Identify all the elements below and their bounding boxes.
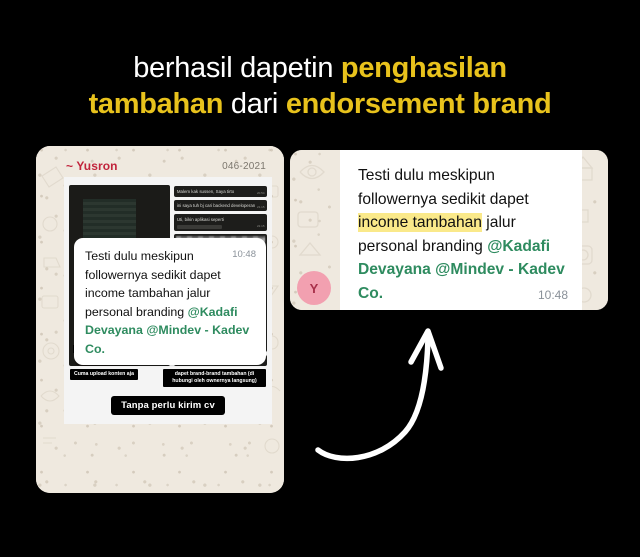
left-message-text: Testi dulu meskipun followernya sedikit … (85, 247, 256, 358)
page-title: berhasil dapetin penghasilan tambahan da… (0, 50, 640, 122)
right-message-bubble: Testi dulu meskipun followernya sedikit … (340, 150, 582, 310)
avatar: Y (297, 271, 331, 305)
inner-chat-time: 21.15 (257, 204, 265, 210)
inner-chat-text: Malem kak sussen, Saya tirto (177, 189, 234, 194)
curved-up-arrow (310, 322, 475, 464)
inner-chat-message: Uti, bikin aplikasi seperti 22.15 (174, 214, 267, 231)
caption-center: Tanpa perlu kirim cv (111, 396, 225, 415)
left-whatsapp-screenshot-card: ~ Yusron 046-2021 bodien ini Malem kak s… (36, 146, 284, 493)
caption-row: Cuma upload konten aja dapet brand-brand… (70, 369, 266, 387)
left-message-bubble: 10:48 Testi dulu meskipun followernya se… (74, 238, 266, 365)
headline-line-2: tambahan dari endorsement brand (0, 86, 640, 122)
left-message-time: 10:48 (232, 249, 256, 260)
inner-chat-message: Malem kak sussen, Saya tirto 20.54 (174, 186, 267, 197)
inner-chat-message: ini saya tuh bj cari backend developeran… (174, 200, 267, 211)
highlighted-phrase: income tambahan (358, 213, 482, 232)
inner-chat-time: 20.54 (257, 190, 265, 196)
caption-left: Cuma upload konten aja (70, 369, 138, 380)
contact-name: ~ Yusron (66, 159, 118, 173)
headline-highlight-2: tambahan (89, 88, 224, 120)
inner-chat-text: Uti, bikin aplikasi seperti (177, 217, 224, 222)
inner-chat-text: ini saya tuh bj cari backend developeran (177, 203, 255, 208)
headline-line-1: berhasil dapetin penghasilan (0, 50, 640, 86)
caption-right: dapet brand-brand tambahan (di hubungi o… (163, 369, 266, 387)
headline-plain-1: berhasil dapetin (133, 52, 341, 84)
headline-highlight-1: penghasilan (341, 52, 507, 84)
right-message-part-1: Testi dulu meskipun followernya sedikit … (358, 167, 529, 208)
screenshot-header: ~ Yusron 046-2021 (64, 155, 272, 177)
headline-highlight-3: endorsement brand (286, 88, 552, 120)
right-message-text: Testi dulu meskipun followernya sedikit … (358, 164, 566, 305)
inner-chat-time: 22.15 (257, 223, 265, 229)
zoomed-whatsapp-message-card: Testi dulu meskipun followernya sedikit … (290, 150, 608, 310)
headline-plain-2: dari (223, 88, 286, 120)
redacted-bar (177, 225, 222, 229)
right-message-time: 10:48 (538, 288, 568, 302)
screenshot-date: 046-2021 (222, 161, 266, 172)
screenshot-captions: Cuma upload konten aja dapet brand-brand… (64, 366, 272, 424)
